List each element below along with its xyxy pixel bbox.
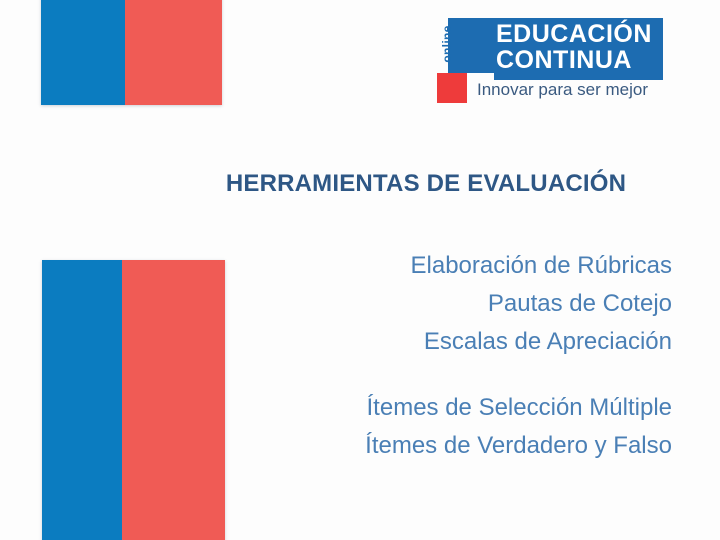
logo-word-educacion: EDUCACIÓN xyxy=(496,22,652,47)
flag-band-red xyxy=(125,0,222,105)
flag-block-bottom xyxy=(42,260,225,540)
brand-logo: online EDUCACIÓN CONTINUA Innovar para s… xyxy=(432,10,678,108)
slide-body-line: Ítemes de Verdadero y Falso xyxy=(250,427,672,465)
slide-body-line: Elaboración de Rúbricas xyxy=(250,247,672,285)
presentation-slide: online EDUCACIÓN CONTINUA Innovar para s… xyxy=(0,0,720,540)
slide-body-list: Elaboración de RúbricasPautas de CotejoE… xyxy=(250,247,672,465)
logo-online-label: online xyxy=(440,18,454,70)
slide-body-line: Ítemes de Selección Múltiple xyxy=(250,389,672,427)
flag-block-top xyxy=(41,0,222,105)
logo-tagline: Innovar para ser mejor xyxy=(477,80,648,100)
logo-word-continua: CONTINUA xyxy=(496,48,632,73)
flag-band-red xyxy=(122,260,225,540)
logo-red-square xyxy=(437,73,467,103)
flag-band-blue xyxy=(41,0,125,105)
slide-body-line: Pautas de Cotejo xyxy=(250,285,672,323)
flag-band-blue xyxy=(42,260,122,540)
slide-body-line: Escalas de Apreciación xyxy=(250,323,672,361)
slide-title: HERRAMIENTAS DE EVALUACIÓN xyxy=(180,170,672,198)
